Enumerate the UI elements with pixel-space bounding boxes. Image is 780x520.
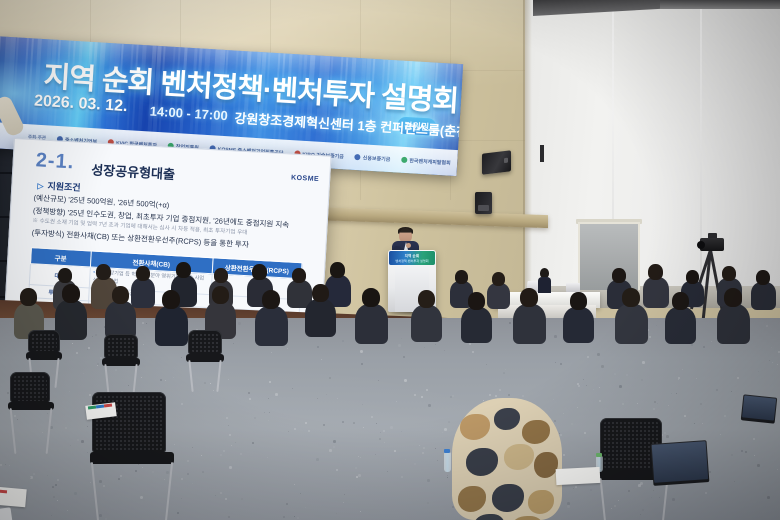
floor-texture: [317, 346, 319, 348]
floor-texture: [601, 365, 604, 368]
floor-texture: [619, 385, 622, 388]
floor-texture: [326, 394, 327, 395]
floor-texture: [554, 335, 557, 338]
floor-texture: [74, 492, 77, 495]
floor-texture: [269, 412, 270, 413]
floor-texture: [353, 422, 355, 424]
floor-texture: [435, 448, 436, 449]
floor-texture: [560, 434, 562, 436]
floor-texture: [120, 475, 122, 477]
floor-texture: [745, 451, 747, 453]
floor-texture: [252, 442, 254, 444]
floor-texture: [77, 439, 79, 441]
camo-pattern-blob: [494, 408, 520, 430]
floor-texture: [628, 490, 630, 492]
floor-texture: [329, 449, 332, 452]
camo-pattern-blob: [458, 486, 486, 512]
camo-pattern-blob: [460, 414, 490, 440]
floor-texture: [753, 438, 755, 440]
floor-texture: [720, 434, 721, 435]
floor-texture: [128, 385, 129, 386]
floor-texture: [754, 455, 755, 456]
floor-texture: [316, 458, 319, 461]
floor-texture: [448, 421, 450, 423]
floor-texture: [379, 438, 381, 440]
floor-texture: [317, 398, 318, 399]
floor-texture: [705, 492, 707, 494]
floor-texture: [741, 450, 743, 452]
floor-texture: [758, 371, 759, 372]
floor-texture: [771, 347, 772, 348]
floor-texture: [737, 377, 739, 379]
floor-texture: [233, 343, 234, 344]
floor-texture: [724, 415, 726, 417]
floor-texture: [358, 474, 361, 477]
chair-backrest: [104, 334, 138, 360]
camo-pattern-blob: [528, 490, 554, 514]
floor-texture: [424, 347, 425, 348]
floor-texture: [97, 365, 98, 366]
floor-texture: [427, 502, 429, 504]
floor-texture: [437, 460, 438, 461]
floor-texture: [676, 393, 677, 394]
floor-texture: [305, 507, 306, 508]
laptop-icon: [651, 440, 710, 486]
floor-texture: [384, 442, 385, 443]
floor-texture: [83, 373, 84, 374]
floor-texture: [228, 425, 229, 426]
floor-texture: [55, 484, 57, 486]
floor-texture: [336, 469, 338, 471]
floor-texture: [344, 494, 345, 495]
floor-texture: [716, 389, 718, 391]
floor-texture: [586, 385, 587, 386]
audience-member: [255, 306, 288, 346]
floor-texture: [231, 445, 232, 446]
floor-texture: [380, 432, 381, 433]
floor-texture: [220, 454, 222, 456]
floor-texture: [731, 391, 732, 392]
floor-texture: [767, 496, 770, 499]
chair-backrest: [188, 330, 222, 356]
floor-texture: [702, 423, 703, 424]
floor-texture: [160, 379, 162, 381]
floor-texture: [294, 484, 295, 485]
camo-pattern-blob: [474, 514, 504, 520]
floor-texture: [414, 463, 416, 465]
floor-texture: [142, 322, 144, 324]
floor-texture: [288, 431, 289, 432]
audience-member: [55, 300, 87, 340]
floor-texture: [442, 432, 443, 433]
laptop-icon: [741, 394, 778, 423]
floor-texture: [378, 380, 379, 381]
camo-pattern-blob: [466, 448, 498, 476]
floor-texture: [444, 350, 445, 351]
audience-member-head: [58, 268, 72, 283]
floor-texture: [323, 424, 325, 426]
floor-texture: [503, 372, 505, 374]
floor-texture: [283, 516, 285, 518]
floor-texture: [305, 422, 307, 424]
floor-texture: [47, 475, 48, 476]
floor-texture: [575, 486, 577, 488]
floor-texture: [177, 512, 179, 514]
floor-texture: [599, 387, 600, 388]
handout-paper: [556, 467, 601, 485]
floor-texture: [343, 502, 344, 503]
audience-member-head: [612, 268, 626, 283]
floor-texture: [192, 483, 193, 484]
floor-texture: [7, 392, 9, 394]
floor-texture: [275, 393, 278, 396]
floor-texture: [653, 408, 655, 410]
floor-texture: [571, 423, 573, 425]
floor-texture: [337, 398, 338, 399]
conference-room-photo: 지역 순회 벤처정책·벤처투자 설명회 강원권 2026. 03. 12. 14…: [0, 0, 780, 520]
laptop-icon: [566, 283, 580, 292]
wall-seam: [700, 0, 702, 300]
floor-texture: [165, 380, 166, 381]
floor-texture: [90, 482, 91, 483]
floor-texture: [597, 353, 600, 356]
floor-texture: [321, 359, 322, 360]
floor-texture: [294, 428, 296, 430]
floor-texture: [223, 450, 225, 452]
floor-texture: [30, 477, 31, 478]
chair-seat: [8, 402, 54, 410]
floor-texture: [684, 415, 686, 417]
floor-texture: [664, 432, 666, 434]
audience-member-head: [292, 268, 306, 283]
audience-member-head: [162, 290, 180, 309]
floor-texture: [92, 336, 93, 337]
floor-texture: [666, 435, 669, 438]
floor-texture: [640, 514, 641, 515]
floor-texture: [398, 344, 401, 347]
floor-texture: [240, 453, 242, 455]
audience-member-head: [214, 268, 228, 283]
floor-texture: [577, 407, 578, 408]
floor-texture: [654, 401, 656, 403]
floor-texture: [427, 479, 430, 482]
floor-texture: [215, 495, 216, 496]
floor-texture: [401, 431, 402, 432]
floor-texture: [757, 464, 760, 467]
floor-texture: [642, 509, 644, 511]
floor-texture: [254, 417, 256, 419]
floor-texture: [192, 447, 193, 448]
ceiling-soffit: [660, 0, 780, 9]
floor-texture: [495, 395, 497, 397]
floor-texture: [202, 471, 204, 473]
floor-texture: [435, 344, 436, 345]
slide-title: 성장공유형대출: [91, 159, 176, 183]
floor-texture: [360, 350, 363, 353]
floor-texture: [210, 383, 211, 384]
floor-texture: [401, 476, 403, 478]
floor-texture: [235, 442, 236, 443]
floor-texture: [419, 445, 420, 446]
floor-texture: [711, 341, 712, 342]
floor-texture: [181, 357, 182, 358]
floor-texture: [584, 432, 586, 434]
floor-texture: [72, 343, 73, 344]
right-white-wall: [525, 0, 780, 300]
floor-texture: [472, 351, 474, 353]
audience-member: [643, 277, 669, 308]
floor-texture: [700, 403, 702, 405]
floor-texture: [362, 404, 363, 405]
camo-pattern-blob: [492, 484, 524, 512]
sponsor-logo: 신용보증기금: [355, 153, 391, 162]
chair-backrest: [28, 330, 60, 354]
floor-texture: [329, 377, 331, 379]
audience-member-head: [330, 262, 345, 278]
floor-texture: [286, 503, 288, 505]
floor-texture: [678, 377, 680, 379]
floor-texture: [563, 454, 565, 456]
floor-texture: [383, 430, 385, 432]
audience-member-head: [648, 264, 663, 280]
wall-corner: [523, 0, 532, 305]
floor-texture: [671, 393, 672, 394]
floor-texture: [401, 338, 402, 339]
floor-texture: [141, 377, 142, 378]
floor-texture: [553, 399, 554, 400]
floor-texture: [201, 455, 202, 456]
kosme-logo-text: KOSME: [291, 175, 320, 184]
floor-texture: [405, 459, 406, 460]
floor-texture: [509, 322, 511, 324]
audience-member-head: [112, 286, 129, 304]
floor-texture: [181, 478, 183, 480]
floor-texture: [559, 433, 560, 434]
audience-member: [717, 304, 750, 344]
audience-member: [411, 305, 442, 342]
floor-texture: [422, 452, 424, 454]
floor-texture: [360, 511, 361, 512]
floor-texture: [99, 514, 102, 517]
audience-member-head: [468, 292, 485, 310]
camo-pattern-blob: [512, 516, 542, 520]
floor-texture: [228, 516, 230, 518]
floor-texture: [444, 428, 447, 431]
floor-texture: [452, 395, 454, 397]
floor-texture: [772, 362, 773, 363]
floor-texture: [678, 379, 679, 380]
floor-texture: [657, 403, 658, 404]
floor-texture: [238, 322, 241, 325]
floor-texture: [65, 427, 67, 429]
slide-number: 2-1.: [35, 149, 75, 174]
floor-texture: [267, 457, 268, 458]
floor-texture: [268, 398, 269, 399]
floor-texture: [554, 420, 556, 422]
presenter-hand: [406, 243, 411, 248]
floor-texture: [489, 394, 491, 396]
floor-texture: [404, 379, 407, 382]
floor-texture: [653, 490, 654, 491]
chair-seat: [90, 452, 174, 464]
wall-speaker-upper-icon: [482, 150, 511, 175]
floor-texture: [42, 432, 43, 433]
floor-texture: [5, 464, 6, 465]
floor-texture: [135, 470, 137, 472]
floor-texture: [682, 369, 683, 370]
sponsor-logo-text: 한국벤처캐피탈협회: [409, 157, 451, 166]
floor-texture: [421, 396, 423, 398]
speaker-bracket: [540, 145, 544, 162]
audience-member-head: [686, 270, 699, 284]
audience-member-head: [492, 272, 505, 286]
audience-member-head: [622, 288, 640, 307]
wall-speaker-lower-icon: [475, 192, 492, 214]
floor-texture: [583, 379, 584, 380]
floor-texture: [342, 340, 344, 342]
floor-texture: [691, 344, 693, 346]
floor-texture: [428, 404, 431, 407]
floor-texture: [555, 362, 556, 363]
floor-texture: [649, 336, 651, 338]
floor-texture: [225, 498, 227, 500]
floor-texture: [469, 343, 471, 345]
floor-texture: [668, 405, 669, 406]
floor-texture: [709, 471, 711, 473]
floor-texture: [0, 464, 2, 466]
floor-texture: [187, 460, 189, 462]
floor-texture: [333, 440, 336, 443]
floor-texture: [271, 352, 272, 353]
floor-texture: [69, 391, 70, 392]
floor-texture: [47, 413, 48, 414]
sponsor-logo-mark-icon: [355, 154, 361, 160]
floor-texture: [371, 416, 373, 418]
floor-texture: [14, 415, 16, 417]
floor-texture: [166, 471, 169, 474]
audience-member: [131, 278, 155, 308]
floor-texture: [560, 363, 562, 365]
audience-member-head: [362, 288, 380, 307]
floor-texture: [355, 467, 357, 469]
water-bottle: [444, 452, 451, 472]
floor-texture: [226, 417, 228, 419]
audience-member-head: [262, 290, 280, 309]
floor-texture: [414, 394, 416, 396]
floor-texture: [777, 469, 778, 470]
floor-texture: [57, 479, 59, 481]
floor-texture: [300, 493, 301, 494]
floor-texture: [659, 497, 660, 498]
camo-pattern-blob: [534, 452, 558, 478]
floor-texture: [138, 464, 139, 465]
floor-texture: [249, 398, 251, 400]
floor-texture: [396, 401, 397, 402]
floor-texture: [593, 389, 594, 390]
floor-texture: [622, 403, 624, 405]
floor-texture: [694, 423, 695, 424]
audience-member-head: [20, 288, 37, 306]
floor-texture: [103, 485, 105, 487]
chair-backrest: [92, 392, 166, 454]
audience-member-head: [418, 290, 435, 308]
floor-texture: [292, 388, 293, 389]
floor-texture: [390, 426, 393, 429]
floor-texture: [387, 471, 388, 472]
audience-member: [563, 307, 594, 343]
audience-member: [355, 304, 388, 344]
floor-texture: [174, 444, 175, 445]
audience-member-head: [62, 284, 80, 303]
floor-texture: [228, 379, 229, 380]
floor-texture: [99, 480, 102, 483]
camo-pattern-blob: [504, 444, 534, 470]
chair-seat: [102, 358, 140, 366]
floor-texture: [173, 377, 174, 378]
audience-member-head: [672, 292, 689, 310]
bottle-cap-icon: [444, 449, 450, 453]
floor-texture: [522, 395, 524, 397]
sponsor-logo-mark-icon: [401, 157, 407, 163]
audience-member-head: [756, 270, 770, 285]
floor-texture: [229, 466, 232, 469]
floor-texture: [656, 325, 657, 326]
sponsor-logo: 한국벤처캐피탈협회: [401, 156, 451, 166]
floor-texture: [423, 447, 425, 449]
floor-texture: [142, 467, 143, 468]
floor-texture: [614, 373, 616, 375]
floor-texture: [143, 344, 144, 345]
floor-texture: [638, 484, 641, 487]
floor-texture: [269, 381, 271, 383]
floor-texture: [52, 486, 54, 488]
floor-texture: [97, 363, 99, 365]
floor-texture: [769, 360, 770, 361]
floor-texture: [33, 473, 35, 475]
floor-texture: [70, 445, 71, 446]
staff-member: [538, 268, 551, 292]
camo-pattern-blob: [522, 420, 550, 444]
floor-texture: [360, 457, 361, 458]
floor-texture: [213, 390, 214, 391]
floor-texture: [81, 440, 84, 443]
floor-texture: [573, 488, 574, 489]
roller-shutter-panel: [578, 222, 640, 290]
audience-member-head: [136, 266, 150, 281]
floor-texture: [641, 379, 643, 381]
floor-texture: [87, 349, 88, 350]
floor-texture: [87, 426, 88, 427]
floor-texture: [567, 505, 570, 508]
floor-texture: [76, 352, 78, 354]
floor-texture: [89, 394, 91, 396]
floor-texture: [508, 394, 510, 396]
bottle-cap-icon: [596, 453, 602, 457]
floor-texture: [637, 403, 638, 404]
floor-texture: [187, 473, 189, 475]
audience-member-head: [252, 264, 267, 280]
floor-texture: [220, 492, 222, 494]
floor-texture: [297, 517, 299, 519]
floor-texture: [361, 363, 363, 365]
floor-texture: [9, 465, 10, 466]
audience-member-camo-jacket: [452, 398, 562, 520]
audience-member-head: [455, 270, 468, 284]
slide-section-heading: 지원조건: [37, 178, 81, 193]
floor-texture: [268, 420, 269, 421]
audience-member-head: [176, 262, 191, 278]
floor-texture: [336, 513, 337, 514]
